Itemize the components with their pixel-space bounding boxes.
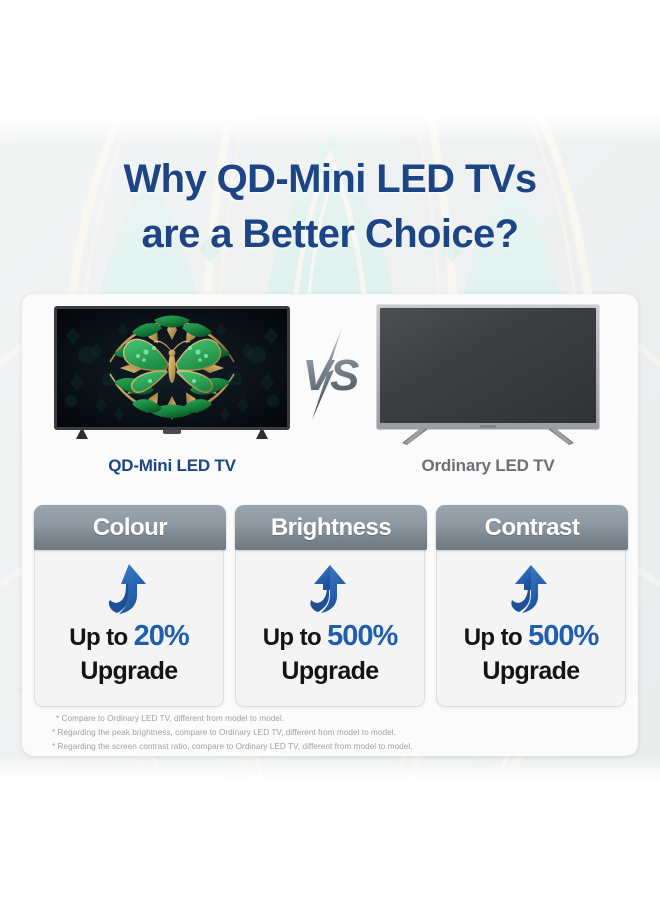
metric-prefix: Up to xyxy=(464,624,522,651)
ordinary-tv-slot: Ordinary LED TV xyxy=(370,304,606,454)
footnote-item: * Regarding the peak brightness, compare… xyxy=(52,726,612,740)
metric-card-contrast: Contrast xyxy=(436,505,626,707)
tv-leg-icon xyxy=(540,428,574,445)
qd-mini-tv-bezel xyxy=(54,306,290,430)
metric-title: Brightness xyxy=(271,514,391,542)
page-title: Why QD-Mini LED TVs are a Better Choice? xyxy=(0,152,660,262)
arrow-up-curved-glyph xyxy=(105,562,153,614)
versus-icon: VS xyxy=(300,324,360,424)
ordinary-tv-bezel xyxy=(376,304,600,430)
metric-card-header: Colour xyxy=(34,505,226,550)
metric-title: Colour xyxy=(93,514,167,542)
metric-prefix: Up to xyxy=(69,624,127,651)
qd-mini-tv-label: QD-Mini LED TV xyxy=(54,456,290,476)
metric-value-line: Up to 500% xyxy=(437,620,625,653)
metric-card-colour: Colour xyxy=(34,505,224,707)
metric-card-brightness: Brightness xyxy=(235,505,425,707)
ordinary-tv-label: Ordinary LED TV xyxy=(370,456,606,476)
tv-leg-icon xyxy=(402,428,436,445)
arrow-up-curved-icon xyxy=(306,562,354,614)
footnote-item: * Compare to Ordinary LED TV, different … xyxy=(52,712,612,726)
metric-number: 20% xyxy=(134,620,189,652)
metric-suffix: Upgrade xyxy=(236,657,424,686)
metric-prefix: Up to xyxy=(263,624,321,651)
metric-card-header: Brightness xyxy=(235,505,427,550)
comparison-panel: QD-Mini LED TV xyxy=(22,294,638,756)
ordinary-tv-leg-left xyxy=(402,428,436,445)
tv-comparison-row: QD-Mini LED TV xyxy=(22,304,638,484)
arrow-up-curved-icon xyxy=(507,562,555,614)
promo-page: Why QD-Mini LED TVs are a Better Choice? xyxy=(0,0,660,900)
butterfly-mandala-icon xyxy=(57,309,287,427)
background-fade-top xyxy=(0,115,660,145)
qd-mini-tv-foot-left xyxy=(76,430,88,439)
footnote-item: * Regarding the screen contrast ratio, c… xyxy=(52,740,612,754)
metric-value-line: Up to 500% xyxy=(236,620,424,653)
metric-number: 500% xyxy=(528,620,598,652)
metric-suffix: Upgrade xyxy=(437,657,625,686)
ordinary-tv-image xyxy=(376,304,600,444)
metric-number: 500% xyxy=(327,620,397,652)
background-fade-bottom xyxy=(0,754,660,780)
qd-mini-tv-foot-right xyxy=(256,430,268,439)
qd-mini-tv-image xyxy=(54,306,290,440)
qd-mini-tv-screen xyxy=(57,309,287,427)
page-title-line-1: Why QD-Mini LED TVs xyxy=(123,157,536,201)
page-title-line-2: are a Better Choice? xyxy=(0,207,660,262)
metric-suffix: Upgrade xyxy=(35,657,223,686)
ordinary-tv-logo xyxy=(480,425,496,428)
metric-card-header: Contrast xyxy=(436,505,628,550)
qd-mini-tv-slot: QD-Mini LED TV xyxy=(54,304,290,454)
arrow-up-curved-glyph xyxy=(507,562,555,614)
ordinary-tv-screen xyxy=(380,308,596,423)
qd-mini-tv-logo xyxy=(163,430,181,434)
versus-badge: VS xyxy=(300,324,360,424)
metric-card-list: Colour xyxy=(34,505,626,707)
arrow-up-curved-glyph xyxy=(306,562,354,614)
ordinary-tv-leg-right xyxy=(540,428,574,445)
arrow-up-curved-icon xyxy=(105,562,153,614)
footnote-list: * Compare to Ordinary LED TV, different … xyxy=(52,712,612,754)
metric-value-line: Up to 20% xyxy=(35,620,223,653)
metric-title: Contrast xyxy=(485,514,580,542)
